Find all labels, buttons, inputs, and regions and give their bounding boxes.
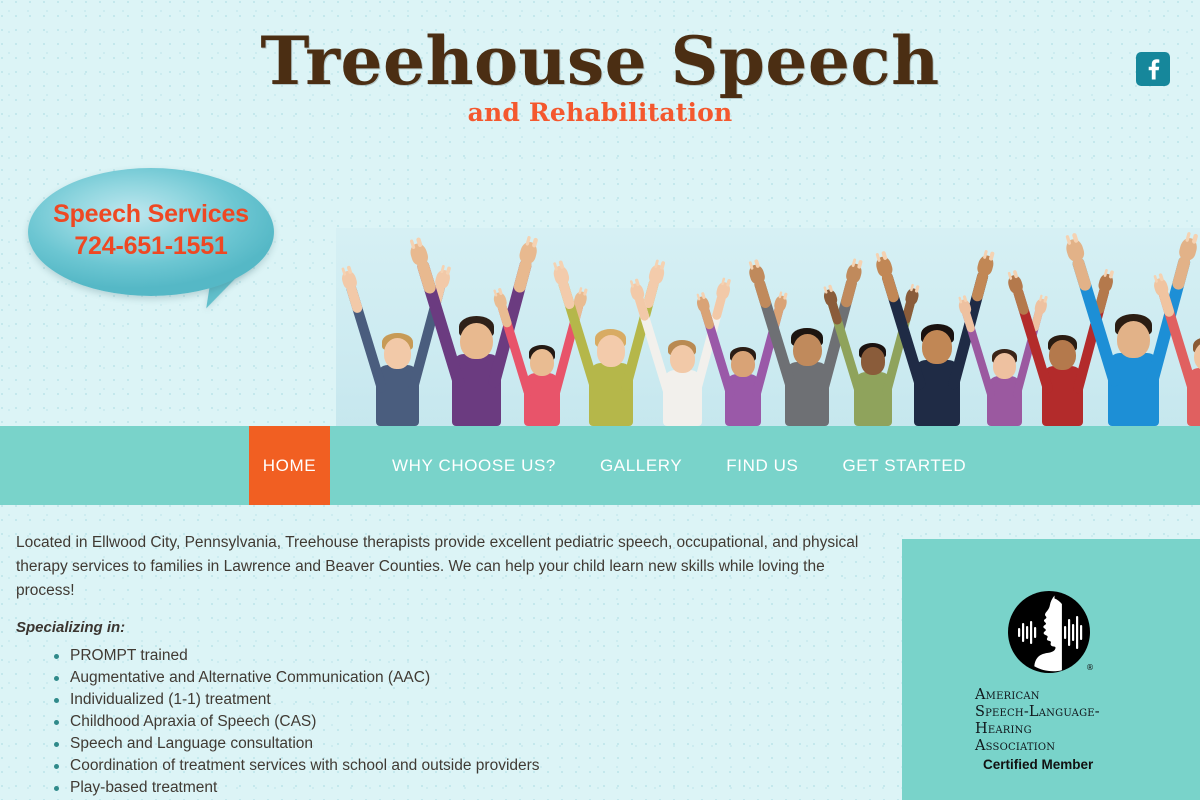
- asha-name: American Speech-Language- Hearing Associ…: [975, 687, 1100, 755]
- specializing-heading: Specializing in:: [16, 619, 878, 636]
- nav-item-label: HOME: [263, 456, 316, 476]
- page-title: Treehouse Speech: [0, 28, 1200, 94]
- speech-bubble-text: Speech Services 724-651-1551: [28, 198, 274, 262]
- page-subtitle: and Rehabilitation: [0, 100, 1200, 125]
- nav-item-label: GET STARTED: [842, 456, 966, 476]
- facebook-icon[interactable]: [1136, 52, 1170, 86]
- hero-child-hand: [976, 254, 996, 277]
- list-item: Childhood Apraxia of Speech (CAS): [54, 711, 878, 733]
- asha-line-2: Speech-Language-: [975, 704, 1100, 721]
- list-item: Individualized (1-1) treatment: [54, 689, 878, 711]
- asha-logo-icon: ®: [1007, 591, 1095, 679]
- hero-image-children: [336, 228, 1200, 426]
- asha-line-3: Hearing: [975, 721, 1100, 738]
- nav-spacer: [0, 426, 249, 505]
- nav-item-why-choose-us[interactable]: WHY CHOOSE US?: [370, 426, 578, 505]
- hero-child-head: [1049, 340, 1076, 370]
- nav-item-label: FIND US: [726, 456, 798, 476]
- hero-child-head: [670, 345, 696, 374]
- nav-item-find-us[interactable]: FIND US: [704, 426, 820, 505]
- asha-line-1: American: [975, 687, 1100, 704]
- speech-bubble: Speech Services 724-651-1551: [28, 168, 278, 323]
- speech-services-label: Speech Services: [28, 198, 274, 230]
- list-item: Play-based treatment: [54, 777, 878, 799]
- list-item: Coordination of treatment services with …: [54, 755, 878, 777]
- hero-child-head: [861, 347, 886, 375]
- list-item: Augmentative and Alternative Communicati…: [54, 667, 878, 689]
- svg-text:®: ®: [1086, 663, 1094, 672]
- nav-item-get-started[interactable]: GET STARTED: [820, 426, 988, 505]
- nav-item-label: WHY CHOOSE US?: [392, 456, 556, 476]
- list-item: Speech and Language consultation: [54, 733, 878, 755]
- intro-paragraph: Located in Ellwood City, Pennsylvania, T…: [16, 531, 878, 603]
- hero-child-head: [597, 335, 626, 367]
- nav-item-home[interactable]: HOME: [249, 426, 330, 505]
- hero-child-arm: [346, 283, 388, 393]
- hero-child-hand: [519, 240, 540, 265]
- hero-child-head: [922, 330, 952, 364]
- brand-block: Treehouse Speech and Rehabilitation: [0, 28, 1200, 125]
- main-navigation: HOMEWHY CHOOSE US?GALLERYFIND USGET STAR…: [0, 426, 1200, 505]
- phone-number: 724-651-1551: [28, 230, 274, 262]
- asha-certified-member-label: Certified Member: [983, 757, 1093, 772]
- list-item: PROMPT trained: [54, 645, 878, 667]
- hero-child-head: [460, 323, 492, 359]
- hero-child-head: [384, 338, 412, 369]
- nav-gap: [330, 426, 370, 505]
- hero-child-head: [793, 334, 822, 366]
- main-content: Located in Ellwood City, Pennsylvania, T…: [16, 531, 878, 799]
- hero-child-figure: [568, 240, 654, 426]
- nav-item-label: GALLERY: [600, 456, 682, 476]
- hero-child-head: [530, 349, 554, 376]
- asha-line-4: Association: [975, 738, 1100, 755]
- nav-item-gallery[interactable]: GALLERY: [578, 426, 704, 505]
- hero-child-head: [993, 353, 1016, 379]
- site-header: Treehouse Speech and Rehabilitation Spee…: [0, 0, 1200, 420]
- specializing-list: PROMPT trainedAugmentative and Alternati…: [16, 645, 878, 799]
- hero-child-head: [1117, 321, 1150, 358]
- hero-child-head: [731, 351, 754, 377]
- asha-certification-panel: ® American Speech-Language- Hearing Asso…: [902, 539, 1200, 800]
